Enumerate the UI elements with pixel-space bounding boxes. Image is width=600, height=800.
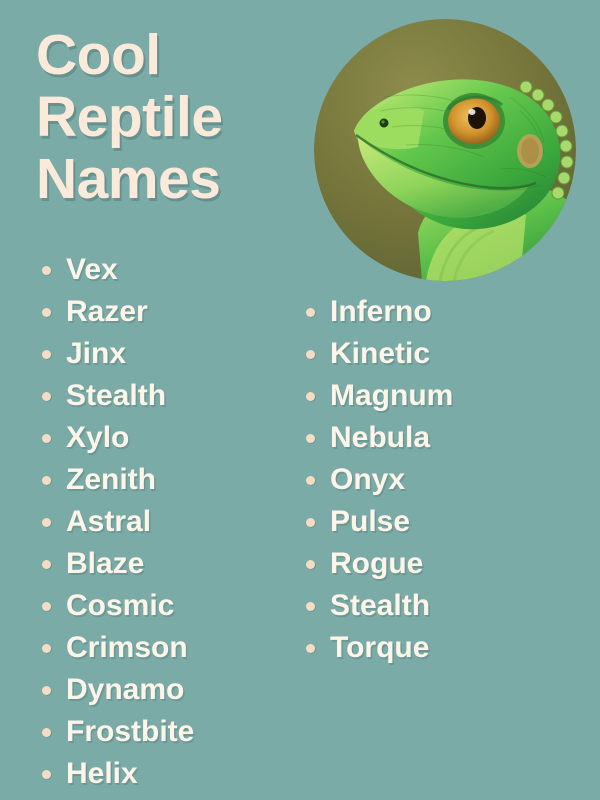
list-item: Frostbite — [36, 711, 286, 753]
bullet-icon — [42, 476, 51, 485]
list-item-label: Vex — [66, 253, 118, 286]
list-item: Pulse — [300, 501, 560, 543]
list-item: Xylo — [36, 417, 286, 459]
list-item-label: Onyx — [330, 463, 405, 496]
list-item-label: Stealth — [330, 589, 430, 622]
bullet-icon — [42, 308, 51, 317]
page-title: Cool Reptile Names — [36, 24, 326, 210]
list-item-label: Stealth — [66, 379, 166, 412]
list-item: Torque — [300, 627, 560, 669]
title-line-2: Reptile — [36, 86, 326, 148]
list-item-label: Magnum — [330, 379, 453, 412]
bullet-icon — [42, 602, 51, 611]
names-column-right: Inferno Kinetic Magnum Nebula Onyx Pulse… — [300, 291, 560, 669]
list-item: Stealth — [300, 585, 560, 627]
names-column-left: Vex Razer Jinx Stealth Xylo Zenith Astra… — [36, 249, 286, 795]
iguana-eye — [443, 93, 505, 149]
bullet-icon — [42, 728, 51, 737]
bullet-icon — [306, 560, 315, 569]
bullet-icon — [42, 560, 51, 569]
list-item-label: Astral — [66, 505, 151, 538]
bullet-icon — [306, 392, 315, 401]
title-line-1: Cool — [36, 24, 326, 86]
list-item-label: Nebula — [330, 421, 430, 454]
list-item: Nebula — [300, 417, 560, 459]
list-item-label: Pulse — [330, 505, 410, 538]
list-item-label: Crimson — [66, 631, 188, 664]
bullet-icon — [42, 392, 51, 401]
iguana-illustration — [314, 19, 576, 281]
list-item: Vex — [36, 249, 286, 291]
list-item: Astral — [36, 501, 286, 543]
list-item-label: Blaze — [66, 547, 144, 580]
bullet-icon — [42, 518, 51, 527]
title-line-3: Names — [36, 148, 326, 210]
list-item-label: Razer — [66, 295, 148, 328]
bullet-icon — [306, 350, 315, 359]
list-item: Jinx — [36, 333, 286, 375]
list-item: Razer — [36, 291, 286, 333]
bullet-icon — [306, 434, 315, 443]
bullet-icon — [42, 350, 51, 359]
list-item-label: Helix — [66, 757, 138, 790]
list-item: Inferno — [300, 291, 560, 333]
list-item: Rogue — [300, 543, 560, 585]
list-item-label: Frostbite — [66, 715, 194, 748]
list-item-label: Cosmic — [66, 589, 174, 622]
list-item: Onyx — [300, 459, 560, 501]
bullet-icon — [42, 434, 51, 443]
list-item: Crimson — [36, 627, 286, 669]
list-item: Magnum — [300, 375, 560, 417]
bullet-icon — [42, 644, 51, 653]
list-item: Cosmic — [36, 585, 286, 627]
list-item-label: Zenith — [66, 463, 156, 496]
list-item: Zenith — [36, 459, 286, 501]
list-item-label: Torque — [330, 631, 429, 664]
list-item-label: Rogue — [330, 547, 423, 580]
bullet-icon — [306, 476, 315, 485]
reptile-names-poster: Cool Reptile Names — [0, 0, 600, 800]
list-item-label: Dynamo — [66, 673, 184, 706]
list-item: Blaze — [36, 543, 286, 585]
list-item-label: Kinetic — [330, 337, 430, 370]
list-item: Kinetic — [300, 333, 560, 375]
bullet-icon — [42, 686, 51, 695]
list-item-label: Inferno — [330, 295, 432, 328]
bullet-icon — [306, 518, 315, 527]
bullet-icon — [306, 308, 315, 317]
reptile-photo — [314, 19, 576, 281]
list-item: Stealth — [36, 375, 286, 417]
list-item: Dynamo — [36, 669, 286, 711]
list-item: Helix — [36, 753, 286, 795]
list-item-label: Jinx — [66, 337, 126, 370]
bullet-icon — [42, 266, 51, 275]
list-item-label: Xylo — [66, 421, 129, 454]
bullet-icon — [42, 770, 51, 779]
bullet-icon — [306, 602, 315, 611]
bullet-icon — [306, 644, 315, 653]
